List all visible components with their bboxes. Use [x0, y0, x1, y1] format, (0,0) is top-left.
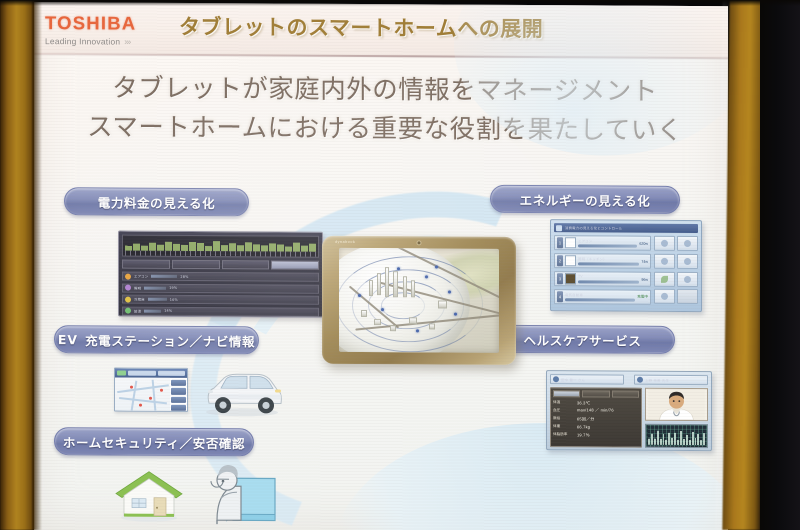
- energy-panel-header: 消費電力の見える化とコントロール: [554, 223, 698, 233]
- device-info: 照明（キッチン）: [578, 256, 639, 266]
- city-building: [411, 281, 415, 298]
- device-level-bar: [578, 245, 637, 248]
- info-icon: [684, 275, 691, 282]
- dark-room-top: [0, 0, 800, 6]
- device-thumbnail: [565, 273, 576, 284]
- leaf-icon: [661, 275, 668, 282]
- stop-icon: [684, 240, 691, 247]
- patient-chip: 田中 健一 さん: [550, 374, 624, 384]
- table-row: 脈拍 65回／分: [553, 416, 639, 423]
- navi-body: [115, 377, 187, 411]
- device-info: エアコン: [578, 238, 637, 248]
- navi-status-icon: [117, 371, 126, 376]
- row-bar: [144, 309, 161, 312]
- city-building: [374, 319, 381, 325]
- control-button-detail[interactable]: [677, 271, 698, 286]
- avatar: [553, 376, 559, 382]
- device-name: 照明（キッチン）: [578, 256, 639, 261]
- table-row: 体重 66.7kg: [553, 424, 639, 430]
- home-illustration: [112, 465, 186, 523]
- control-button-empty: [677, 289, 698, 304]
- power-cost-tab-month[interactable]: [222, 260, 270, 269]
- device-index: 3: [557, 273, 563, 284]
- callout-security[interactable]: ホームセキュリティ／安否確認: [54, 427, 254, 456]
- power-cost-graph-axis: [125, 251, 316, 257]
- control-button-toggle[interactable]: [654, 254, 675, 269]
- table-row[interactable]: 照明 19%: [122, 283, 319, 293]
- city-building: [409, 317, 417, 324]
- control-button-stop[interactable]: [677, 236, 698, 251]
- device-thumbnail: [565, 255, 576, 266]
- vital-value: 65回／分: [577, 416, 594, 422]
- tab-measure[interactable]: [553, 390, 580, 397]
- city-building: [361, 310, 367, 317]
- power-cost-row-list: エアコン 28% 照明 19% 冷蔵庫 16%: [122, 272, 319, 318]
- device-value: 充電中: [637, 295, 648, 300]
- category-dot-icon: [125, 296, 131, 302]
- power-icon: [661, 240, 668, 247]
- navi-side-buttons[interactable]: [170, 378, 187, 412]
- network-node: [381, 308, 384, 311]
- device-index: 2: [557, 255, 563, 266]
- device-value: 74w: [641, 259, 648, 263]
- energy-device-list: 1 エアコン 620w 2 照明（キッチン）: [554, 235, 651, 305]
- power-cost-screenshot[interactable]: エアコン 28% 照明 19% 冷蔵庫 16%: [118, 231, 323, 318]
- vital-key: 体重: [553, 424, 573, 429]
- callout-power-cost[interactable]: 電力料金の見える化: [64, 187, 249, 216]
- network-node: [448, 290, 451, 293]
- map-pin-icon: [139, 404, 142, 407]
- row-bar: [148, 298, 167, 301]
- row-bar: [144, 286, 166, 289]
- vital-key: 体脂肪率: [553, 432, 573, 437]
- doctor-portrait-icon: [646, 389, 707, 420]
- vitals-panel: 体温 36.3℃ 血圧 max/148 ／ min/76 脈拍 65回／分 体重…: [550, 387, 642, 448]
- map-pin-icon: [160, 389, 163, 392]
- map-pin-icon: [149, 397, 152, 400]
- control-button-eco[interactable]: [654, 271, 675, 286]
- healthcare-screenshot[interactable]: 田中 健一 さん 上野 奈美 先生 体温 36.3℃: [546, 370, 712, 451]
- device-index: 4: [557, 291, 563, 302]
- table-row[interactable]: エアコン 28%: [122, 272, 319, 282]
- vital-value: max/148 ／ min/76: [577, 407, 614, 413]
- energy-panel-body: 1 エアコン 620w 2 照明（キッチン）: [554, 235, 698, 305]
- control-button-charge[interactable]: [654, 289, 675, 304]
- dark-room-right: [760, 0, 800, 530]
- presentation-slide: TOSHIBA Leading Innovation ››› タブレットのスマー…: [34, 2, 728, 530]
- power-cost-tab-year[interactable]: [271, 260, 319, 269]
- list-item[interactable]: 4 電気自動車 充電中: [554, 289, 651, 305]
- map-road: [119, 397, 167, 404]
- device-name: エアコン: [578, 238, 637, 243]
- device-index: 1: [557, 237, 563, 248]
- network-node: [358, 294, 361, 297]
- row-value: 14%: [164, 309, 172, 313]
- ev-navi-screenshot[interactable]: [114, 367, 188, 411]
- callout-energy[interactable]: エネルギーの見える化: [490, 185, 680, 214]
- row-name: エアコン: [134, 274, 148, 279]
- healthcare-body: 体温 36.3℃ 血圧 max/148 ／ min/76 脈拍 65回／分 体重…: [550, 387, 708, 448]
- navi-button-zoom-out[interactable]: [171, 388, 186, 394]
- avatar: [637, 377, 643, 383]
- list-item[interactable]: 1 エアコン 620w: [554, 235, 651, 251]
- device-thumbnail: [565, 237, 576, 248]
- row-value: 19%: [169, 286, 177, 290]
- clock-icon: [684, 258, 691, 265]
- list-item[interactable]: 2 照明（キッチン） 74w: [554, 253, 651, 269]
- energy-control-buttons[interactable]: [654, 236, 698, 305]
- city-building: [403, 276, 407, 297]
- patient-name: 田中 健一 さん: [561, 377, 585, 382]
- city-building: [390, 325, 396, 331]
- device-value: 620w: [639, 241, 648, 245]
- row-value: 16%: [170, 297, 178, 301]
- camera-icon: [417, 240, 422, 245]
- row-name: 照明: [134, 285, 141, 290]
- toggle-icon: [661, 258, 668, 265]
- callout-energy-label: エネルギーの見える化: [520, 189, 651, 209]
- table-row[interactable]: 冷蔵庫 16%: [122, 295, 319, 305]
- row-name: 冷蔵庫: [134, 297, 145, 302]
- city-building: [369, 280, 373, 296]
- navi-button-current-location[interactable]: [171, 396, 186, 402]
- tab-graph[interactable]: [612, 391, 639, 398]
- device-value: 96w: [641, 277, 648, 281]
- callout-ev-prefix: EV: [58, 332, 78, 347]
- device-name: TV: [578, 275, 639, 279]
- callout-security-label: ホームセキュリティ／安否確認: [63, 432, 245, 452]
- table-row: 血圧 max/148 ／ min/76: [553, 407, 639, 414]
- power-cost-tab-day[interactable]: [122, 260, 170, 269]
- table-row[interactable]: 給湯 14%: [122, 306, 319, 316]
- row-bar: [151, 275, 177, 278]
- vital-value: 36.3℃: [577, 400, 590, 405]
- energy-screenshot[interactable]: 消費電力の見える化とコントロール 1 エアコン 620w 2: [550, 219, 702, 312]
- callout-healthcare[interactable]: ヘルスケアサービス: [490, 325, 675, 354]
- battery-icon: [661, 293, 668, 300]
- list-item[interactable]: 3 TV 96w: [554, 271, 651, 287]
- tablet-device[interactable]: dynabook: [322, 236, 516, 365]
- row-name: 給湯: [134, 308, 141, 313]
- projection-photo: TOSHIBA Leading Innovation ››› タブレットのスマー…: [0, 0, 800, 530]
- vital-key: 脈拍: [553, 416, 573, 421]
- city-building: [377, 273, 381, 295]
- callout-healthcare-label: ヘルスケアサービス: [524, 329, 642, 349]
- city-building: [429, 323, 435, 329]
- vital-value: 19.7％: [577, 432, 590, 438]
- callout-ev-label: 充電ステーション／ナビ情報: [85, 330, 255, 350]
- doctor-name: 上野 奈美 先生: [645, 377, 669, 382]
- power-cost-tabs[interactable]: [122, 260, 319, 270]
- healthcare-header: 田中 健一 さん 上野 奈美 先生: [550, 374, 708, 385]
- ecg-chart: [645, 424, 708, 448]
- navi-button-zoom-in[interactable]: [171, 380, 186, 386]
- table-row: 体温 36.3℃: [553, 400, 639, 406]
- city-building: [438, 300, 447, 308]
- city-building: [393, 271, 398, 297]
- screen-frame-left: [0, 0, 34, 530]
- category-dot-icon: [125, 308, 131, 314]
- device-level-bar: [578, 280, 639, 283]
- power-cost-graph: [122, 235, 319, 258]
- electric-car-illustration: [197, 365, 285, 418]
- power-cost-graph-bars: [125, 238, 316, 252]
- device-info: TV: [578, 275, 639, 284]
- tablet-brand-label: dynabook: [335, 240, 355, 244]
- navi-map[interactable]: [115, 377, 170, 411]
- map-road: [152, 380, 157, 411]
- device-info: 電気自動車: [565, 292, 635, 302]
- tablet-screen[interactable]: [339, 248, 499, 353]
- network-node: [397, 267, 400, 270]
- vital-key: 体温: [553, 400, 573, 405]
- control-button-operate[interactable]: [654, 236, 675, 251]
- control-button-schedule[interactable]: [677, 254, 698, 269]
- vital-value: 66.7kg: [577, 424, 590, 429]
- callout-power-cost-label: 電力料金の見える化: [98, 192, 216, 212]
- navi-toolbar: [115, 368, 187, 377]
- row-value: 28%: [180, 274, 188, 278]
- category-dot-icon: [125, 273, 131, 279]
- table-row: 体脂肪率 19.7％: [553, 432, 639, 439]
- power-cost-tab-week[interactable]: [172, 260, 220, 269]
- tab-vital-data[interactable]: [582, 390, 609, 397]
- device-level-bar: [565, 298, 635, 301]
- swoosh-top-right: [454, 2, 728, 156]
- city-building: [385, 267, 389, 297]
- healthcare-right-column: [645, 388, 708, 448]
- ecg-bars: [648, 429, 705, 445]
- vitals-tabs[interactable]: [553, 390, 639, 398]
- network-node: [416, 329, 419, 332]
- network-node: [435, 265, 438, 268]
- doctor-chip: 上野 奈美 先生: [634, 375, 708, 385]
- category-dot-icon: [125, 285, 131, 291]
- map-pin-icon: [130, 386, 133, 389]
- device-level-bar: [578, 263, 639, 266]
- navi-button-search[interactable]: [171, 405, 186, 411]
- callout-ev[interactable]: EV 充電ステーション／ナビ情報: [54, 325, 259, 354]
- elderly-person-illustration: [197, 458, 283, 527]
- energy-panel-title: 消費電力の見える化とコントロール: [565, 225, 622, 230]
- device-name: 電気自動車: [565, 292, 635, 297]
- vital-key: 血圧: [553, 408, 573, 413]
- doctor-video-feed[interactable]: [645, 388, 708, 421]
- energy-app-icon: [556, 225, 562, 231]
